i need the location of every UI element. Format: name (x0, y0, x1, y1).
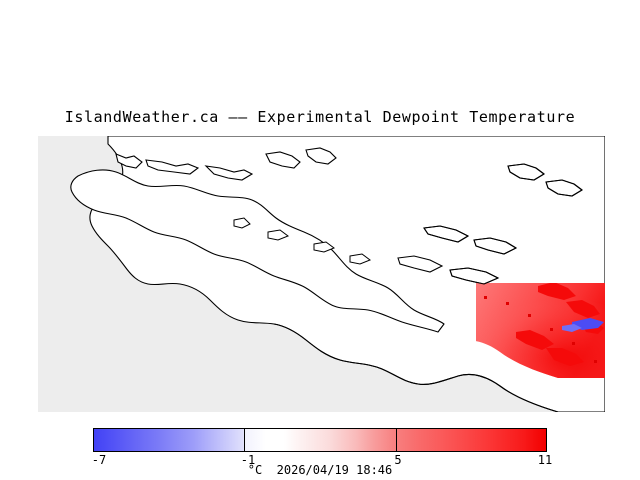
colorbar-tick-5 (396, 428, 397, 452)
page-title: IslandWeather.ca —— Experimental Dewpoin… (0, 108, 640, 126)
colorbar-units-and-timestamp: °C 2026/04/19 18:46 (0, 464, 640, 477)
colorbar-tick-minus1 (244, 428, 245, 452)
colorbar[interactable] (93, 428, 547, 452)
map-canvas[interactable] (38, 136, 605, 412)
map-plot-area[interactable] (38, 136, 605, 412)
weather-map-page: IslandWeather.ca —— Experimental Dewpoin… (0, 0, 640, 480)
colorbar-gradient-strip (93, 428, 547, 452)
